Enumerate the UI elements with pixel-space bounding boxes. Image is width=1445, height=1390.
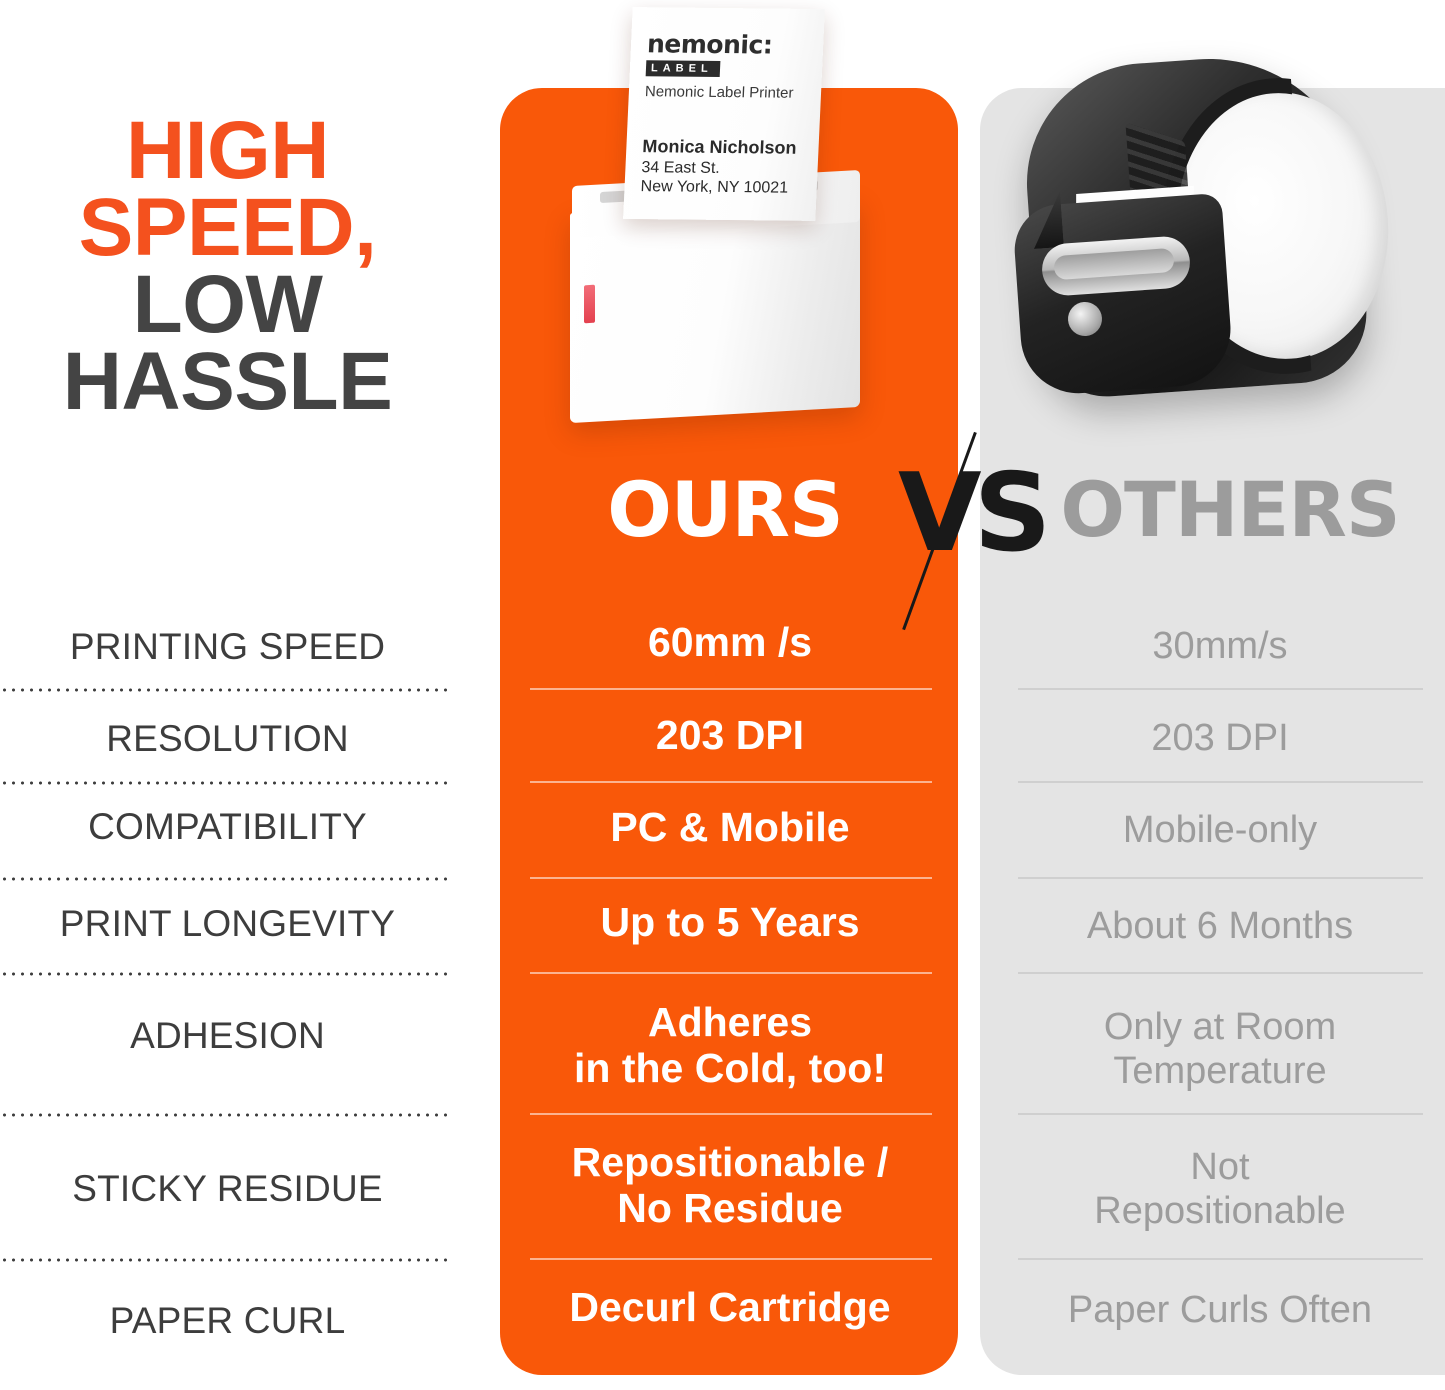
title-line-3: LOW xyxy=(0,266,455,343)
spec-label-print-longevity: PRINT LONGEVITY xyxy=(0,903,455,945)
others-value-print-longevity: About 6 Months xyxy=(1000,904,1440,948)
title-line-4: HASSLE xyxy=(0,343,455,420)
spec-label-paper-curl: PAPER CURL xyxy=(0,1300,455,1342)
others-value-sticky-residue: NotRepositionable xyxy=(1000,1145,1440,1233)
title-line-2: SPEED, xyxy=(0,189,455,266)
row-divider xyxy=(0,972,452,976)
others-value-printing-speed: 30mm/s xyxy=(1000,624,1440,668)
nemonic-logo-badge: LABEL xyxy=(646,60,720,77)
others-divider xyxy=(1018,1113,1423,1115)
others-divider xyxy=(1018,972,1423,974)
page-title: HIGH SPEED, LOW HASSLE xyxy=(0,112,455,420)
left-column: HIGH SPEED, LOW HASSLE PRINTING SPEED RE… xyxy=(0,0,470,1390)
ours-divider xyxy=(530,1113,932,1115)
others-header: OTHERS xyxy=(1020,465,1440,554)
versus-label: VS xyxy=(898,460,1043,568)
ours-value-paper-curl: Decurl Cartridge xyxy=(510,1285,950,1331)
address-name: Monica Nicholson xyxy=(642,136,819,160)
nemonic-printer-image: nemonic: LABEL Nemonic Label Printer Mon… xyxy=(500,0,960,470)
ours-value-sticky-residue: Repositionable /No Residue xyxy=(510,1140,950,1232)
others-divider xyxy=(1018,688,1423,690)
versus-badge: VS xyxy=(888,440,1078,630)
ours-divider xyxy=(530,1258,932,1260)
address-city: New York, NY 10021 xyxy=(640,179,788,198)
spec-label-printing-speed: PRINTING SPEED xyxy=(0,626,455,668)
nemonic-logo: nemonic: xyxy=(647,31,824,58)
title-line-1: HIGH xyxy=(0,112,455,189)
printer-badge xyxy=(584,285,595,324)
row-divider xyxy=(0,877,452,881)
competitor-printer-image xyxy=(980,40,1445,460)
printer-front-body xyxy=(1012,193,1235,397)
others-divider xyxy=(1018,1258,1423,1260)
spec-label-adhesion: ADHESION xyxy=(0,1015,455,1057)
row-divider xyxy=(0,1113,452,1117)
others-value-resolution: 203 DPI xyxy=(1000,716,1440,760)
printed-label: nemonic: LABEL Nemonic Label Printer Mon… xyxy=(623,7,825,221)
others-value-adhesion: Only at RoomTemperature xyxy=(1000,1005,1440,1093)
address-street: 34 East St. xyxy=(641,159,720,177)
others-divider xyxy=(1018,877,1423,879)
ours-header: OURS xyxy=(510,465,940,554)
label-address: Monica Nicholson 34 East St. New York, N… xyxy=(640,136,819,199)
others-value-paper-curl: Paper Curls Often xyxy=(1000,1288,1440,1332)
comparison-infographic: HIGH SPEED, LOW HASSLE PRINTING SPEED RE… xyxy=(0,0,1445,1390)
ours-divider xyxy=(530,688,932,690)
ours-value-resolution: 203 DPI xyxy=(510,713,950,759)
row-divider xyxy=(0,1258,452,1262)
others-value-compatibility: Mobile-only xyxy=(1000,808,1440,852)
ours-value-compatibility: PC & Mobile xyxy=(510,805,950,851)
row-divider xyxy=(0,688,452,692)
others-divider xyxy=(1018,781,1423,783)
label-tagline: Nemonic Label Printer xyxy=(645,83,822,102)
spec-label-sticky-residue: STICKY RESIDUE xyxy=(0,1168,455,1210)
ours-value-printing-speed: 60mm /s xyxy=(510,620,950,666)
ours-divider xyxy=(530,972,932,974)
spec-label-resolution: RESOLUTION xyxy=(0,718,455,760)
ours-value-print-longevity: Up to 5 Years xyxy=(510,900,950,946)
row-divider xyxy=(0,781,452,785)
ours-divider xyxy=(530,877,932,879)
ours-divider xyxy=(530,781,932,783)
ours-value-adhesion: Adheresin the Cold, too! xyxy=(510,1000,950,1092)
spec-label-compatibility: COMPATIBILITY xyxy=(0,806,455,848)
